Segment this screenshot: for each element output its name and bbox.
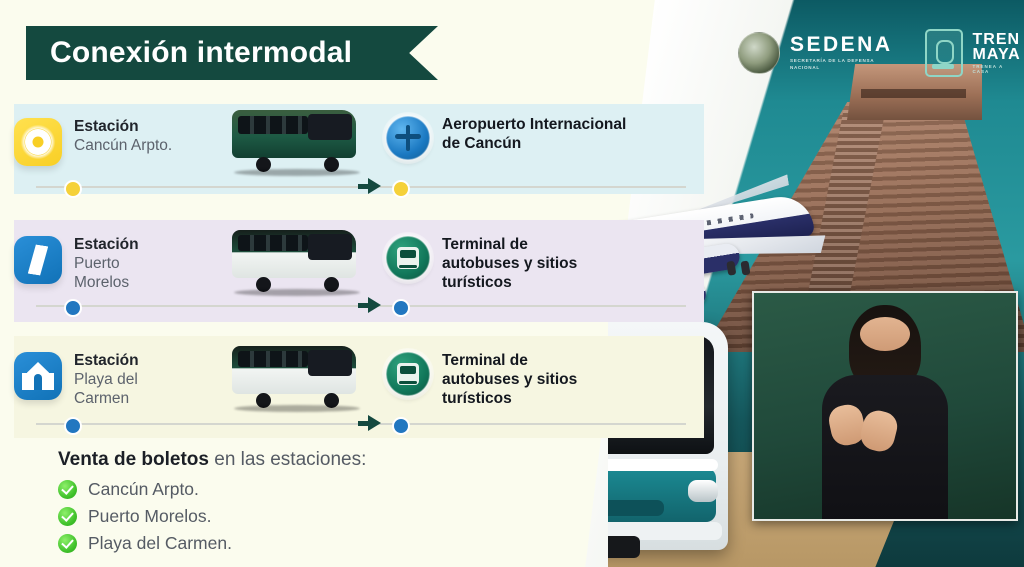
check-circle-icon — [58, 534, 77, 553]
check-circle-icon — [58, 507, 77, 526]
monument-square-icon — [14, 236, 62, 284]
destination-node-1[interactable]: Aeropuerto Internacional de Cancún — [386, 116, 626, 160]
ticket-station-3: Playa del Carmen. — [88, 533, 232, 554]
station-node-3[interactable]: Estación Playa del Carmen — [14, 352, 139, 409]
ticket-station-1: Cancún Arpto. — [88, 479, 199, 500]
destination-line-1-2: de Cancún — [442, 135, 626, 154]
sedena-logo-text: SEDENA SECRETARÍA DE LA DEFENSA NACIONAL — [790, 34, 893, 72]
destination-line-1-1: Aeropuerto Internacional — [442, 116, 626, 135]
ticket-station-2: Puerto Morelos. — [88, 506, 212, 527]
airplane-circle-icon — [386, 116, 430, 160]
timeline-dot-3a — [64, 417, 82, 435]
station-node-2[interactable]: Estación Puerto Morelos — [14, 236, 139, 293]
page-title: Conexión intermodal — [26, 36, 352, 70]
header-logos: SEDENA SECRETARÍA DE LA DEFENSA NACIONAL… — [738, 24, 1018, 82]
station-line-1-1: Cancún Arpto. — [74, 137, 172, 156]
tren-maya-line2: MAYA — [973, 47, 1021, 62]
station-line-2-2: Morelos — [74, 274, 139, 293]
station-line-3-2: Carmen — [74, 390, 139, 409]
sedena-subtitle: SECRETARÍA DE LA DEFENSA NACIONAL — [790, 58, 893, 72]
destination-line-3-2: autobuses y sitios — [442, 371, 577, 390]
timeline-dot-1a — [64, 180, 82, 198]
ticket-sales-title: Venta de boletos en las estaciones: — [58, 448, 558, 473]
station-title-2: Estación — [74, 236, 139, 255]
white-green-coach-photo-3 — [232, 336, 362, 410]
tren-maya-line1: TREN — [973, 32, 1021, 47]
destination-line-2-3: turísticos — [442, 274, 577, 293]
destination-line-3-1: Terminal de — [442, 352, 577, 371]
station-title-1: Estación — [74, 118, 172, 137]
destination-line-2-2: autobuses y sitios — [442, 255, 577, 274]
list-item: Puerto Morelos. — [58, 506, 558, 527]
check-circle-icon — [58, 480, 77, 499]
timeline-dot-3b — [392, 417, 410, 435]
intermodal-row-2: Estación Puerto Morelos Terminal de auto… — [14, 236, 714, 293]
title-banner: Conexión intermodal — [26, 26, 438, 80]
mayan-stele-icon — [925, 29, 963, 77]
slide-root: SEDENA SECRETARÍA DE LA DEFENSA NACIONAL… — [0, 0, 1024, 567]
temple-square-icon — [14, 352, 62, 400]
timeline-arrow-2 — [368, 297, 381, 313]
sedena-name: SEDENA — [790, 34, 893, 55]
destination-line-2-1: Terminal de — [442, 236, 577, 255]
green-city-bus-photo — [232, 100, 362, 174]
intermodal-row-3: Estación Playa del Carmen Terminal de au… — [14, 352, 714, 409]
station-node-1[interactable]: Estación Cancún Arpto. — [14, 118, 172, 166]
destination-node-2[interactable]: Terminal de autobuses y sitios turístico… — [386, 236, 577, 293]
station-line-2-1: Puerto — [74, 255, 139, 274]
destination-node-3[interactable]: Terminal de autobuses y sitios turístico… — [386, 352, 577, 409]
ticket-sales-section: Venta de boletos en las estaciones: Canc… — [58, 448, 558, 554]
timeline-arrow-3 — [368, 415, 381, 431]
list-item: Playa del Carmen. — [58, 533, 558, 554]
white-green-coach-photo-2 — [232, 220, 362, 294]
mexico-eagle-seal-icon — [738, 32, 780, 74]
ticket-sales-title-rest: en las estaciones: — [209, 449, 366, 470]
sun-square-icon — [14, 118, 62, 166]
bus-circle-icon-3 — [386, 352, 430, 396]
station-title-3: Estación — [74, 352, 139, 371]
intermodal-row-1: Estación Cancún Arpto. Aeropuerto Intern… — [14, 118, 714, 166]
tren-maya-logo-text: TREN MAYA TRENEA A CASA — [973, 32, 1021, 74]
destination-line-3-3: turísticos — [442, 390, 577, 409]
timeline-arrow-1 — [368, 178, 381, 194]
bus-circle-icon-2 — [386, 236, 430, 280]
timeline-dot-1b — [392, 180, 410, 198]
list-item: Cancún Arpto. — [58, 479, 558, 500]
sign-language-interpreter-video[interactable] — [752, 291, 1018, 521]
ticket-sales-title-bold: Venta de boletos — [58, 449, 209, 470]
tren-maya-tagline: TRENEA A CASA — [973, 65, 1021, 74]
timeline-dot-2a — [64, 299, 82, 317]
station-line-3-1: Playa del — [74, 371, 139, 390]
timeline-dot-2b — [392, 299, 410, 317]
